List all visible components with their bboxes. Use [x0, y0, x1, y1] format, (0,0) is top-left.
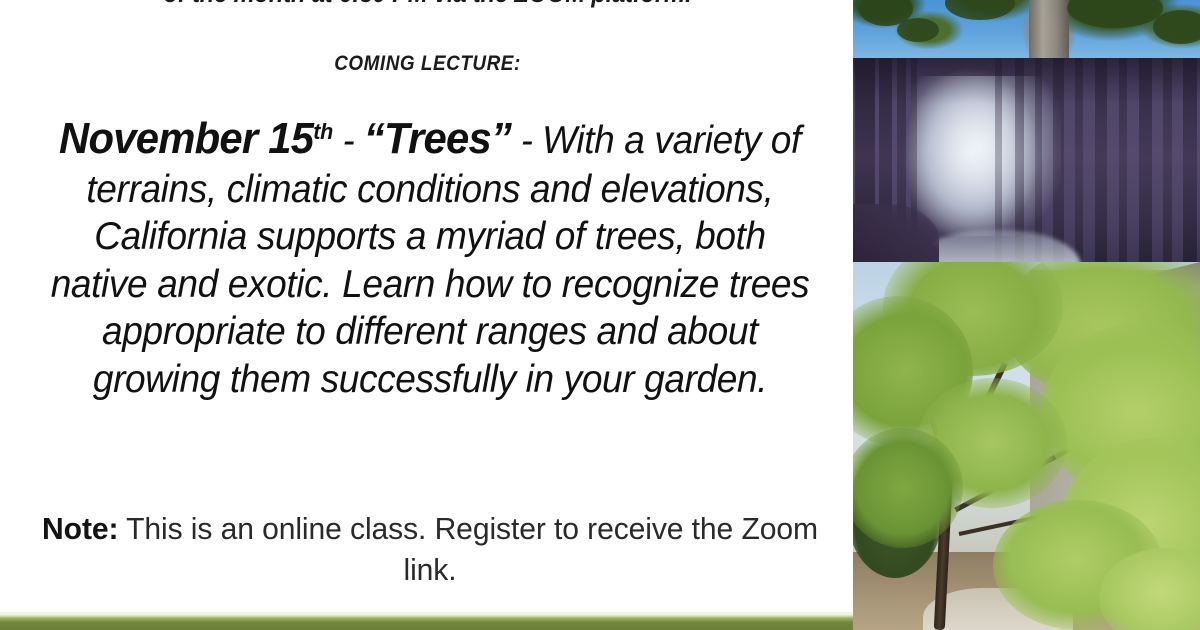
photo-column — [853, 0, 1200, 630]
bottom-accent-rule — [0, 612, 856, 630]
lecture-date: November 15 — [59, 114, 313, 163]
lecture-date-ordinal: th — [313, 119, 333, 144]
green-ornamental-tree-photo — [853, 262, 1200, 630]
clipped-schedule-line: of the month at 6:30 PM via the ZOOM pla… — [51, 0, 803, 12]
coming-lecture-heading: COMING LECTURE: — [43, 52, 813, 76]
forest-trunk — [1095, 58, 1107, 262]
forest-trunk — [1163, 58, 1172, 262]
canopy-leaf-cluster — [945, 0, 1015, 20]
oak-trunk-shape — [1029, 0, 1069, 58]
canopy-leaf-cluster — [1153, 10, 1200, 44]
canopy-leaf-cluster — [897, 18, 939, 42]
canopy-leaf-cluster — [1067, 0, 1163, 28]
forest-trunk — [1035, 58, 1042, 262]
tree-branch — [945, 362, 1007, 481]
forest-trunk — [1119, 58, 1127, 262]
lecture-flyer: of the month at 6:30 PM via the ZOOM pla… — [0, 0, 1200, 630]
building-wall — [1030, 270, 1200, 600]
lecture-separator-after: - — [511, 120, 542, 162]
note-text: This is an online class. Register to rec… — [118, 511, 818, 587]
lecture-topic: “Trees” — [364, 114, 511, 163]
lecture-description-block: November 15th - “Trees” - With a variety… — [46, 112, 814, 404]
oak-canopy-photo — [853, 0, 1200, 58]
forest-trunk — [1053, 58, 1064, 262]
note-block: Note: This is an online class. Register … — [38, 508, 822, 590]
forest-trunk — [1139, 58, 1152, 262]
text-column: of the month at 6:30 PM via the ZOOM pla… — [0, 0, 855, 614]
note-label: Note: — [42, 511, 118, 546]
forest-trunk — [1075, 58, 1083, 262]
lecture-separator-before: - — [333, 120, 364, 162]
misty-forest-road-photo — [853, 58, 1200, 262]
forest-trunk — [1183, 58, 1197, 262]
